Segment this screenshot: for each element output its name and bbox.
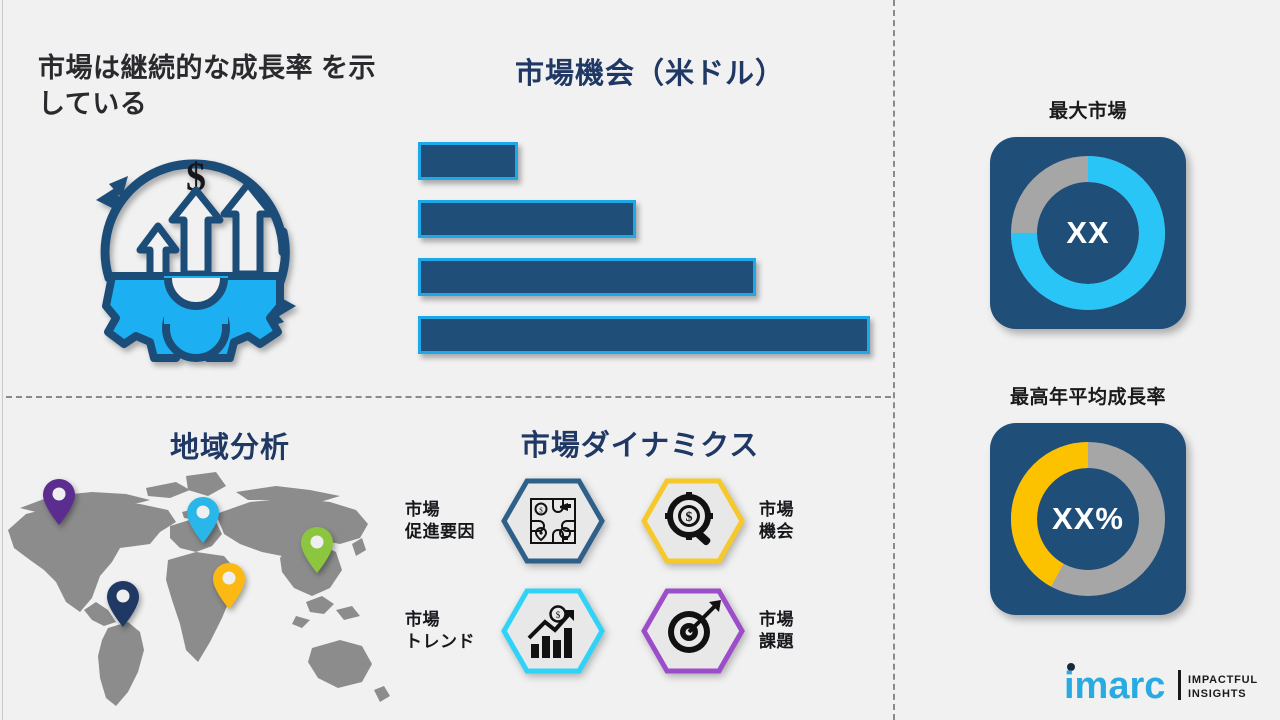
largest-market-card: XX — [990, 137, 1186, 329]
growth-panel-title: 市場は継続的な成長率 を示している — [38, 50, 388, 123]
bar-1 — [418, 142, 518, 180]
dynamics-item-drivers[interactable]: 市場 促進要因 $ — [405, 478, 605, 564]
dynamics-item-challenges[interactable]: 市場 課題 — [641, 588, 839, 674]
svg-text:$: $ — [556, 610, 561, 620]
svg-text:$: $ — [539, 507, 543, 515]
imarc-logo[interactable]: imarc IMPACTFUL INSIGHTS — [1062, 660, 1262, 706]
dynamics-item-drivers-label: 市場 促進要因 — [405, 499, 501, 543]
dynamics-item-trends[interactable]: 市場 トレンド $ — [405, 588, 605, 674]
market-dynamics-title: 市場ダイナミクス — [410, 422, 870, 464]
logo-wordmark: imarc — [1064, 665, 1165, 706]
bar-4 — [418, 316, 870, 354]
hexagon-drivers: $ — [501, 478, 605, 564]
world-map — [0, 452, 400, 714]
logo-tagline-line1: IMPACTFUL — [1188, 674, 1258, 686]
market-opportunity-bar-chart — [418, 142, 878, 354]
bar-3 — [418, 258, 756, 296]
dynamics-item-opportunities[interactable]: $ 市場 機会 — [641, 478, 839, 564]
dynamics-item-challenges-label: 市場 課題 — [759, 609, 839, 653]
svg-text:$: $ — [686, 510, 693, 525]
horizontal-divider — [6, 396, 891, 398]
map-pin-north-america[interactable] — [42, 478, 76, 531]
map-pin-asia-pacific[interactable] — [300, 526, 334, 579]
dynamics-item-trends-label: 市場 トレンド — [405, 609, 501, 653]
bar-2 — [418, 200, 636, 238]
market-opportunity-title: 市場機会（米ドル） — [420, 50, 880, 92]
largest-market-value: XX — [990, 137, 1186, 329]
vertical-divider — [893, 0, 895, 720]
largest-market-heading: 最大市場 — [958, 96, 1218, 123]
logo-divider — [1178, 670, 1181, 700]
highest-cagr-value: XX% — [990, 423, 1186, 615]
growth-gear-arrows-icon: $ — [72, 128, 320, 374]
map-pin-middle-east-africa[interactable] — [212, 562, 246, 615]
market-dynamics-grid: 市場 促進要因 $ — [405, 478, 835, 688]
map-pin-europe[interactable] — [186, 496, 220, 549]
logo-tagline-line2: INSIGHTS — [1188, 688, 1246, 700]
hexagon-trends: $ — [501, 588, 605, 674]
hexagon-opportunities: $ — [641, 478, 745, 564]
infographic-slide: 市場は継続的な成長率 を示している $ — [0, 0, 1280, 720]
dynamics-item-opportunities-label: 市場 機会 — [759, 499, 839, 543]
highest-cagr-heading: 最高年平均成長率 — [958, 382, 1218, 409]
highest-cagr-card: XX% — [990, 423, 1186, 615]
hexagon-challenges — [641, 588, 745, 674]
map-pin-latin-america[interactable] — [106, 580, 140, 633]
